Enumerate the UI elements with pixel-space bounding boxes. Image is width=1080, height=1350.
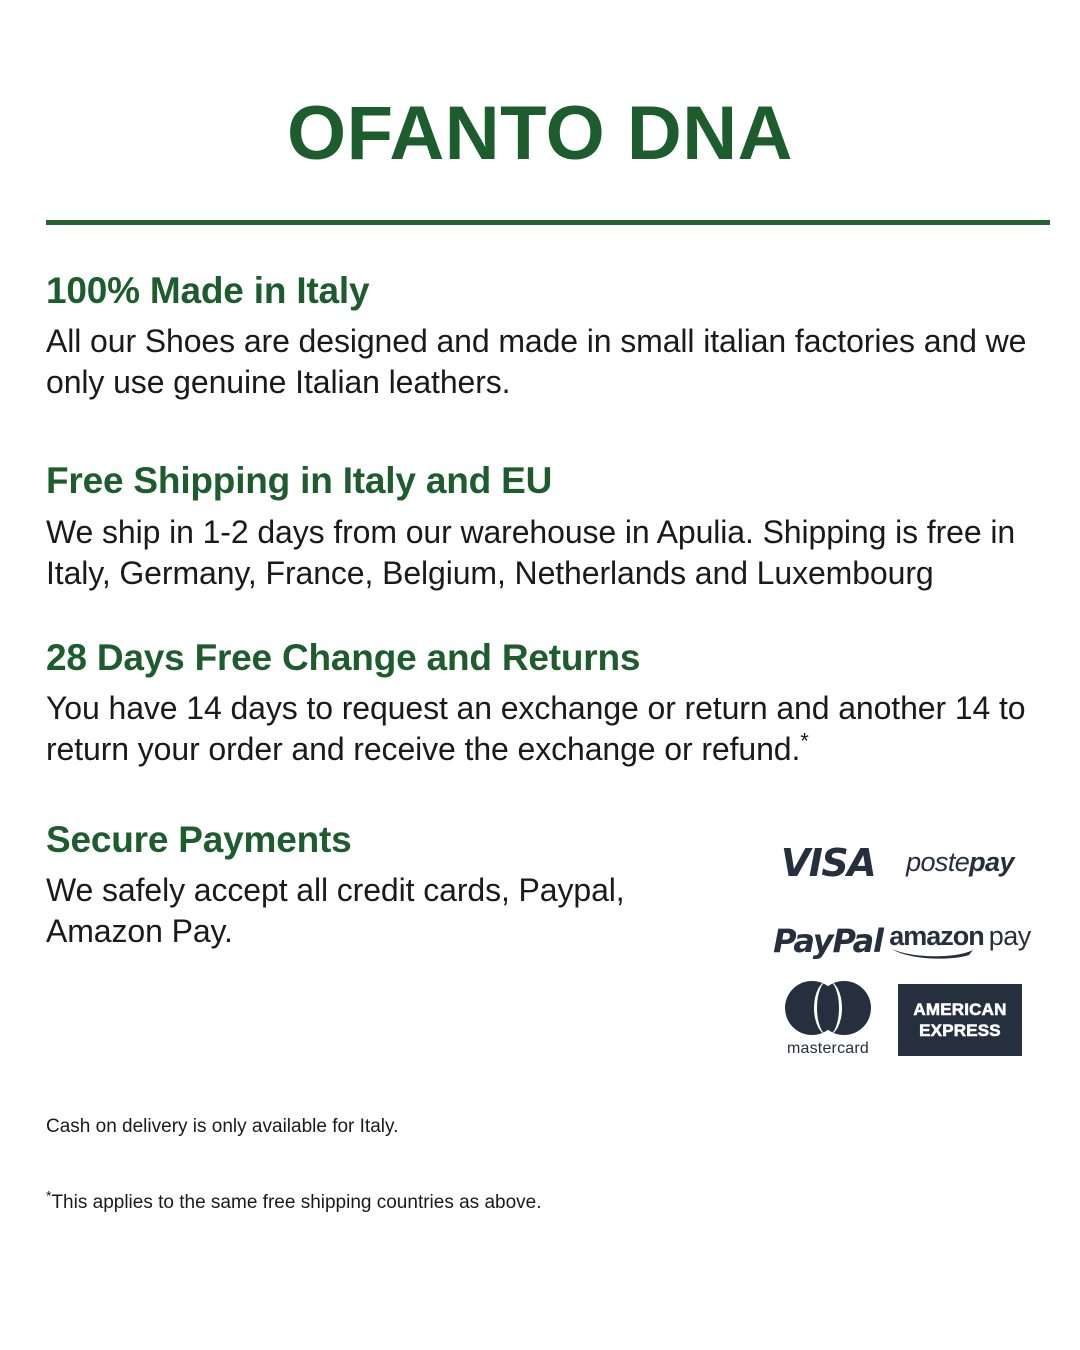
section-heading-free-shipping: Free Shipping in Italy and EU (46, 459, 1034, 503)
sections-list: 100% Made in Italy All our Shoes are des… (46, 269, 1034, 1060)
amazon-pay-logo: amazonpay (894, 902, 1026, 980)
section-heading-change-and-returns: 28 Days Free Change and Returns (46, 636, 1034, 680)
mastercard-circles-icon (785, 981, 871, 1035)
ofanto-dna-page: OFANTO DNA 100% Made in Italy All our Sh… (0, 0, 1080, 1350)
visa-logo-text: VISA (781, 841, 875, 885)
section-body-free-shipping: We ship in 1-2 days from our warehouse i… (46, 512, 1034, 594)
section-secure-payments: Secure Payments We safely accept all cre… (46, 818, 1034, 1060)
mastercard-logo-text: mastercard (787, 1040, 869, 1058)
title-block: OFANTO DNA (46, 0, 1034, 225)
payments-row: Secure Payments We safely accept all cre… (46, 818, 1034, 1060)
section-free-shipping: Free Shipping in Italy and EU We ship in… (46, 459, 1034, 593)
section-made-in-italy: 100% Made in Italy All our Shoes are des… (46, 269, 1034, 403)
section-heading-made-in-italy: 100% Made in Italy (46, 269, 1034, 313)
postepay-logo-text: postepay (906, 847, 1014, 878)
section-body-change-and-returns: You have 14 days to request an exchange … (46, 688, 1034, 770)
amazon-smile-icon (891, 947, 977, 959)
visa-logo: VISA (762, 824, 894, 902)
postepay-logo: postepay (894, 824, 1026, 902)
payment-logos-grid: VISA postepay PayPal amazonpay (762, 824, 1026, 1060)
cash-on-delivery-note: Cash on delivery is only available for I… (46, 1116, 1034, 1138)
section-body-secure-payments: We safely accept all credit cards, Paypa… (46, 870, 686, 952)
mastercard-logo: mastercard (762, 980, 894, 1060)
postepay-bold-part: pay (969, 847, 1014, 877)
section-body-made-in-italy: All our Shoes are designed and made in s… (46, 321, 1034, 403)
footnote-text: This applies to the same free shipping c… (51, 1192, 541, 1213)
amex-mark: AMERICAN EXPRESS (898, 984, 1022, 1056)
american-express-logo: AMERICAN EXPRESS (894, 980, 1026, 1060)
amazon-pay-word: pay (989, 921, 1031, 951)
amazon-pay-logo-text: amazonpay (889, 923, 1031, 959)
paypal-logo-text: PayPal (773, 922, 883, 960)
returns-body-text: You have 14 days to request an exchange … (46, 690, 1026, 767)
returns-asterisk: * (800, 728, 808, 753)
paypal-logo: PayPal (762, 902, 894, 980)
section-change-and-returns: 28 Days Free Change and Returns You have… (46, 636, 1034, 770)
title-divider (46, 220, 1050, 225)
postepay-light-part: poste (906, 847, 969, 877)
payments-text-block: Secure Payments We safely accept all cre… (46, 818, 686, 952)
mastercard-overlap-lens (814, 981, 842, 1035)
amex-line-2: EXPRESS (919, 1022, 1001, 1039)
page-title: OFANTO DNA (46, 96, 1034, 172)
mastercard-mark: mastercard (785, 981, 871, 1058)
footnote-note: *This applies to the same free shipping … (46, 1192, 1034, 1214)
amex-line-1: AMERICAN (913, 1001, 1006, 1018)
section-heading-secure-payments: Secure Payments (46, 818, 686, 862)
